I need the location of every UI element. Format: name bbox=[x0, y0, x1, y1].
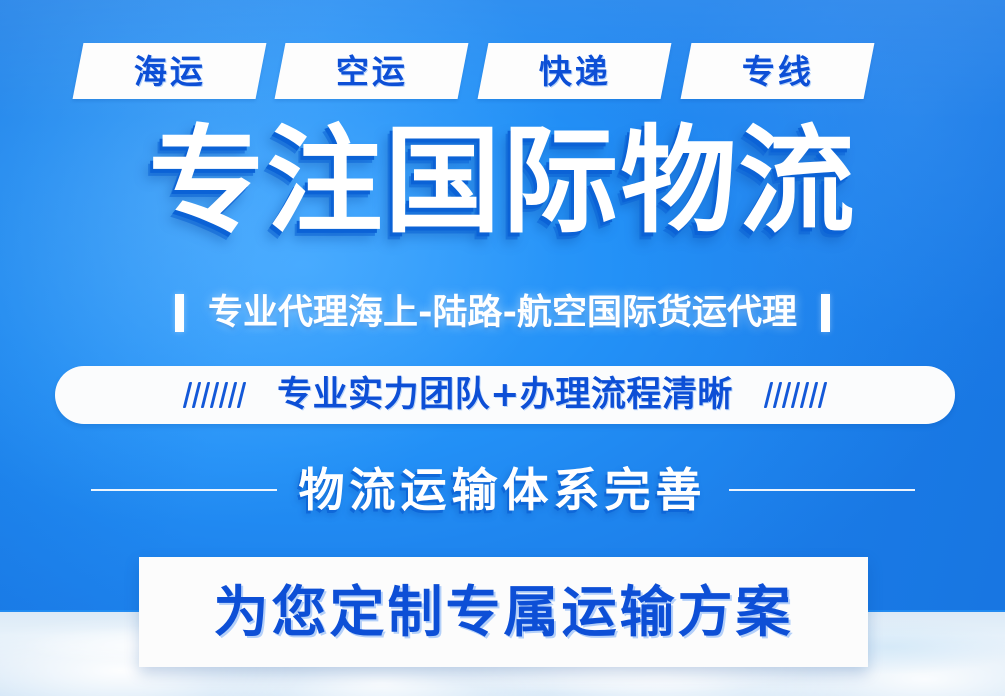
horizontal-rule-right bbox=[729, 489, 915, 491]
capability-pill-text: 专业实力团队+办理流程清晰 bbox=[277, 378, 733, 413]
headline-title: 专注国际物流 bbox=[0, 114, 1005, 251]
feature-line-row: 物流运输体系完善 bbox=[0, 455, 1005, 525]
capability-pill: 专业实力团队+办理流程清晰 bbox=[55, 366, 955, 424]
service-tag-row: 海运 空运 快递 专线 bbox=[0, 43, 1005, 99]
service-tag-sea-freight[interactable]: 海运 bbox=[73, 43, 267, 99]
logistics-promo-banner: 海运 空运 快递 专线 专注国际物流 专业代理海上-陆路-航空国际货运代理 专业… bbox=[0, 0, 1005, 696]
vertical-bar-icon-right bbox=[821, 294, 830, 332]
service-tag-dedicated-line[interactable]: 专线 bbox=[681, 43, 875, 99]
subtitle-text: 专业代理海上-陆路-航空国际货运代理 bbox=[208, 296, 797, 331]
cta-plate[interactable]: 为您定制专属运输方案 bbox=[139, 557, 868, 667]
horizontal-rule-left bbox=[91, 489, 277, 491]
feature-line-text: 物流运输体系完善 bbox=[299, 467, 707, 513]
service-tag-label: 海运 bbox=[134, 55, 206, 88]
subtitle-row: 专业代理海上-陆路-航空国际货运代理 bbox=[0, 290, 1005, 336]
cta-text: 为您定制专属运输方案 bbox=[213, 585, 793, 640]
vertical-bar-icon-left bbox=[175, 294, 184, 332]
hash-marks-icon-left bbox=[186, 382, 243, 408]
service-tag-air-freight[interactable]: 空运 bbox=[275, 43, 469, 99]
service-tag-label: 快递 bbox=[539, 55, 611, 88]
service-tag-label: 空运 bbox=[336, 55, 408, 88]
service-tag-express[interactable]: 快递 bbox=[478, 43, 672, 99]
hash-marks-icon-right bbox=[767, 382, 824, 408]
service-tag-label: 专线 bbox=[742, 55, 814, 88]
